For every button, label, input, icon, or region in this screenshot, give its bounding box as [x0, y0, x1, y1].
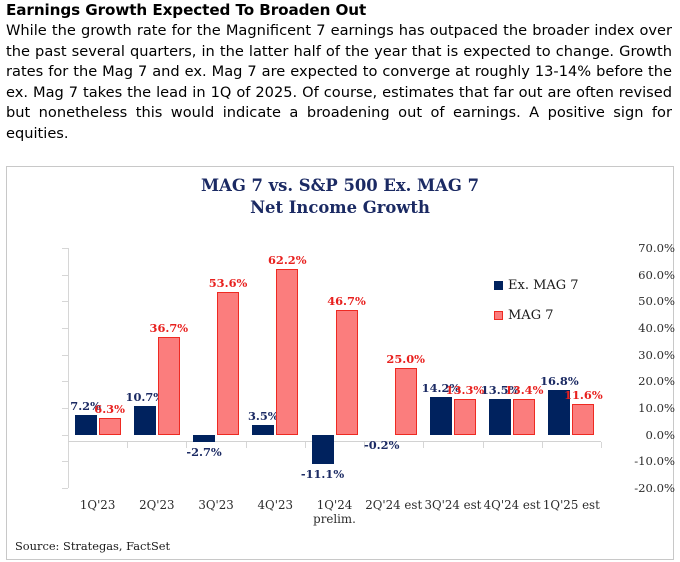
bar-value-label-mag-7: 11.6% [564, 388, 603, 402]
x-axis-tick [601, 442, 602, 448]
x-axis-label: 2Q'24 est [364, 498, 423, 512]
bar-mag-7[interactable] [454, 399, 476, 434]
bar-value-label-ex-mag-7: 3.5% [248, 409, 279, 423]
chart-panel: MAG 7 vs. S&P 500 Ex. MAG 7 Net Income G… [6, 166, 674, 556]
source-bar: Source: Strategas, FactSet [6, 534, 674, 560]
bar-value-label-mag-7: 53.6% [209, 276, 248, 290]
source-text: Source: Strategas, FactSet [15, 539, 170, 553]
x-axis-label: 4Q'24 est [483, 498, 542, 512]
page-body-text: While the growth rate for the Magnificen… [6, 21, 672, 145]
legend-item-mag-7[interactable]: MAG 7 [494, 305, 579, 325]
bar-mag-7[interactable] [217, 292, 239, 435]
y-axis-tick-label: 50.0% [623, 294, 675, 308]
x-axis-label: 1Q'23 [68, 498, 127, 512]
bar-value-label-ex-mag-7: -2.7% [186, 445, 221, 459]
legend-swatch-icon-mag-7 [494, 311, 503, 320]
y-axis-tick-label: 20.0% [623, 374, 675, 388]
bar-value-label-ex-mag-7: 16.8% [540, 374, 579, 388]
chart-legend: Ex. MAG 7 MAG 7 [494, 275, 579, 335]
x-axis-label: 2Q'23 [127, 498, 186, 512]
bar-value-label-mag-7: 13.4% [505, 383, 544, 397]
bar-value-label-mag-7: 62.2% [268, 253, 307, 267]
legend-label-ex-mag-7: Ex. MAG 7 [508, 278, 579, 293]
bar-value-label-mag-7: 36.7% [150, 321, 189, 335]
bar-mag-7[interactable] [158, 337, 180, 435]
bar-mag-7[interactable] [336, 310, 358, 435]
x-axis-label: 3Q'23 [186, 498, 245, 512]
y-axis-tick-label: -10.0% [623, 454, 675, 468]
bar-mag-7[interactable] [572, 404, 594, 435]
bar-ex-mag-7[interactable] [193, 435, 215, 442]
y-axis-tick-label: 0.0% [623, 428, 675, 442]
bar-ex-mag-7[interactable] [75, 415, 97, 434]
page-title: Earnings Growth Expected To Broaden Out [6, 1, 366, 19]
bar-mag-7[interactable] [276, 269, 298, 435]
bar-ex-mag-7[interactable] [430, 397, 452, 435]
x-axis-label: 1Q'25 est [542, 498, 601, 512]
y-axis-tick-label: 40.0% [623, 321, 675, 335]
bar-mag-7[interactable] [99, 418, 121, 435]
bar-ex-mag-7[interactable] [134, 406, 156, 435]
y-axis-tick-label: -20.0% [623, 481, 675, 495]
y-axis-tick-label: 30.0% [623, 348, 675, 362]
x-axis-label: 3Q'24 est [423, 498, 482, 512]
legend-item-ex-mag-7[interactable]: Ex. MAG 7 [494, 275, 579, 295]
bar-value-label-mag-7: 46.7% [327, 294, 366, 308]
bar-value-label-ex-mag-7: -0.2% [364, 438, 399, 452]
y-axis-tick-label: 10.0% [623, 401, 675, 415]
legend-label-mag-7: MAG 7 [508, 308, 554, 323]
report-page: Earnings Growth Expected To Broaden Out … [0, 0, 680, 562]
legend-swatch-icon-ex-mag-7 [494, 281, 503, 290]
plot-area: 70.0%60.0%50.0%40.0%30.0%20.0%10.0%0.0%-… [7, 167, 675, 557]
bar-ex-mag-7[interactable] [489, 399, 511, 435]
bar-value-label-ex-mag-7: -11.1% [301, 467, 344, 481]
bar-ex-mag-7[interactable] [312, 435, 334, 465]
bar-value-label-mag-7: 6.3% [94, 402, 125, 416]
x-axis-label: 4Q'23 [246, 498, 305, 512]
bar-mag-7[interactable] [395, 368, 417, 435]
y-axis-tick-label: 60.0% [623, 268, 675, 282]
bar-ex-mag-7[interactable] [252, 425, 274, 434]
x-axis-label: 1Q'24 prelim. [305, 498, 364, 526]
bar-mag-7[interactable] [513, 399, 535, 435]
bar-value-label-mag-7: 13.3% [446, 383, 485, 397]
bar-value-label-mag-7: 25.0% [386, 352, 425, 366]
y-axis-tick-label: 70.0% [623, 241, 675, 255]
